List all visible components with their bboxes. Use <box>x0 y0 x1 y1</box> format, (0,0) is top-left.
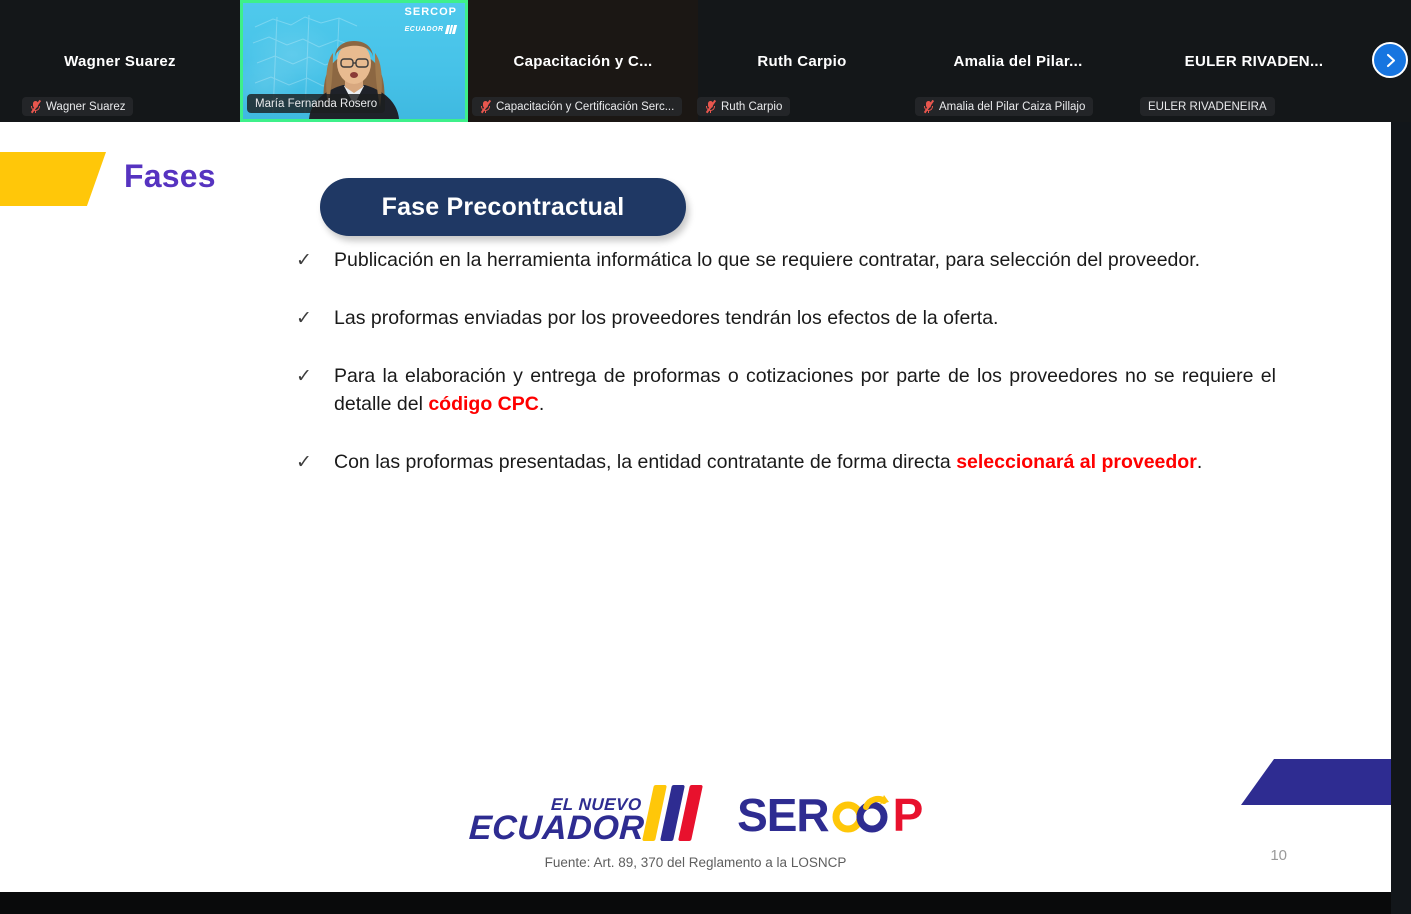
checkmark-icon: ✓ <box>296 246 334 274</box>
ecuador-logo: EL NUEVO ECUADOR <box>469 785 697 844</box>
participant-name-6: EULER RIVADEN... <box>1185 53 1324 70</box>
checkmark-icon: ✓ <box>296 448 334 476</box>
sercop-logo-infinity-icon <box>829 792 893 838</box>
bullet-text-highlight: código CPC <box>428 393 539 415</box>
bullet-text-segment: Las proformas enviadas por los proveedor… <box>334 307 998 329</box>
video-sercop-watermark: SERCOP <box>405 6 457 18</box>
phase-pill-label: Fase Precontractual <box>382 193 625 222</box>
page-title: Fases <box>124 158 216 195</box>
mic-muted-icon <box>705 100 716 113</box>
mic-muted-icon <box>480 100 491 113</box>
window-chrome-right <box>1391 122 1411 914</box>
checkmark-icon: ✓ <box>296 362 334 390</box>
participant-badge-label-1: Wagner Suarez <box>46 101 125 113</box>
yellow-accent-shape <box>0 152 106 206</box>
bullet-text: Con las proformas presentadas, la entida… <box>334 448 1276 476</box>
participant-badge-label-4: Ruth Carpio <box>721 101 782 113</box>
participant-name-4: Ruth Carpio <box>757 53 846 70</box>
ecuador-logo-main-text: ECUADOR <box>468 813 645 844</box>
bullet-text: Publicación en la herramienta informátic… <box>334 246 1276 274</box>
app-root: Wagner Suarez SERCOP ECUADOR <box>0 0 1411 914</box>
sercop-logo: SER P <box>737 788 922 842</box>
next-participants-button[interactable] <box>1372 42 1408 78</box>
participant-badge-5: Amalia del Pilar Caiza Pillajo <box>915 97 1093 116</box>
bullet-text-highlight: seleccionará al proveedor <box>956 451 1197 473</box>
mic-muted-icon <box>30 100 41 113</box>
sercop-logo-p-text: P <box>893 788 923 842</box>
participant-badge-label-6: EULER RIVADENEIRA <box>1148 101 1267 113</box>
participant-name-1: Wagner Suarez <box>64 53 176 70</box>
participant-name-5: Amalia del Pilar... <box>953 53 1082 70</box>
participant-badge-label-3: Capacitación y Certificación Serc... <box>496 101 674 113</box>
bullet-item: ✓Con las proformas presentadas, la entid… <box>296 448 1276 476</box>
mic-muted-icon <box>923 100 934 113</box>
participant-badge-active: María Fernanda Rosero <box>247 94 385 113</box>
bullet-text-segment: . <box>539 393 544 415</box>
phase-pill: Fase Precontractual <box>320 178 686 236</box>
participant-tile-active-video[interactable]: SERCOP ECUADOR <box>240 0 468 122</box>
participant-filmstrip: Wagner Suarez SERCOP ECUADOR <box>0 0 1411 122</box>
source-note: Fuente: Art. 89, 370 del Reglamento a la… <box>0 855 1391 870</box>
bullet-text: Para la elaboración y entrega de proform… <box>334 362 1276 418</box>
footer-logos: EL NUEVO ECUADOR SER P <box>0 785 1391 844</box>
participant-badge-label-5: Amalia del Pilar Caiza Pillajo <box>939 101 1085 113</box>
participant-badge-6: EULER RIVADENEIRA <box>1140 97 1275 116</box>
window-chrome-bottom <box>0 892 1391 914</box>
participant-name-3: Capacitación y C... <box>513 53 652 70</box>
bullet-text-segment: . <box>1197 451 1202 473</box>
bullet-text-segment: Con las proformas presentadas, la entida… <box>334 451 956 473</box>
participant-badge-label-active: María Fernanda Rosero <box>255 98 377 110</box>
participant-badge-4: Ruth Carpio <box>697 97 790 116</box>
bullet-item: ✓Las proformas enviadas por los proveedo… <box>296 304 1276 332</box>
bullet-list: ✓Publicación en la herramienta informáti… <box>296 246 1276 506</box>
bullet-text: Las proformas enviadas por los proveedor… <box>334 304 1276 332</box>
ecuador-flag-icon <box>642 785 703 841</box>
ecuador-logo-words: EL NUEVO ECUADOR <box>469 797 644 844</box>
chevron-right-icon <box>1383 53 1398 68</box>
participant-badge-3: Capacitación y Certificación Serc... <box>472 97 682 116</box>
checkmark-icon: ✓ <box>296 304 334 332</box>
sercop-logo-ser-text: SER <box>737 788 829 842</box>
participant-badge-1: Wagner Suarez <box>22 97 133 116</box>
presentation-slide: Fases Fase Precontractual ✓Publicación e… <box>0 122 1391 892</box>
bullet-text-segment: Publicación en la herramienta informátic… <box>334 249 1200 271</box>
bullet-item: ✓Publicación en la herramienta informáti… <box>296 246 1276 274</box>
bullet-item: ✓Para la elaboración y entrega de profor… <box>296 362 1276 418</box>
ecuador-flag-bars-icon <box>444 25 456 34</box>
